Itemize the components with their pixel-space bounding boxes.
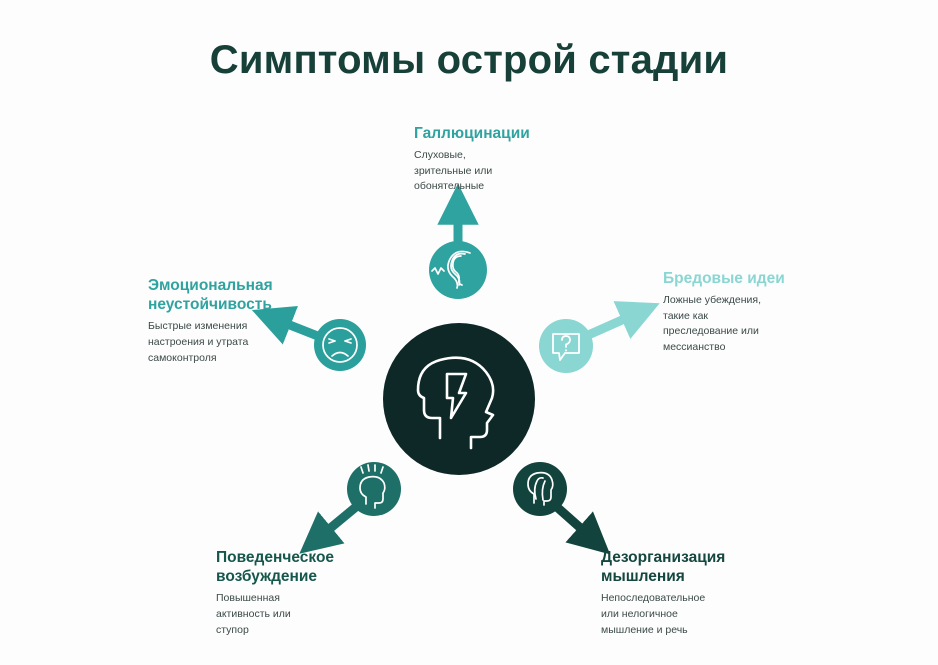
node-text-behavioral: Поведенческое возбуждение Повышенная акт… bbox=[216, 548, 406, 638]
node-circle-disorganized[interactable] bbox=[513, 462, 567, 516]
node-text-disorganized: Дезорганизация мышления Непоследовательн… bbox=[601, 548, 801, 638]
node-desc-delusions: Ложные убеждения, такие как преследовани… bbox=[663, 293, 853, 355]
node-desc-disorganized: Непоследовательное или нелогичное мышлен… bbox=[601, 591, 801, 638]
node-text-hallucinations: Галлюцинации Слуховые, зрительные или об… bbox=[414, 124, 624, 195]
node-circle-hallucinations[interactable] bbox=[429, 241, 487, 299]
node-heading-disorganized: Дезорганизация мышления bbox=[601, 548, 801, 586]
node-desc-behavioral: Повышенная активность или ступор bbox=[216, 591, 406, 638]
node-desc-hallucinations: Слуховые, зрительные или обонятельные bbox=[414, 148, 624, 195]
node-text-delusions: Бредовые идеи Ложные убеждения, такие ка… bbox=[663, 269, 853, 355]
node-desc-emotional: Быстрые изменения настроения и утрата са… bbox=[148, 319, 324, 366]
infographic-canvas: Симптомы острой стадии bbox=[0, 0, 938, 665]
center-core bbox=[383, 323, 535, 475]
node-heading-hallucinations: Галлюцинации bbox=[414, 124, 624, 143]
node-heading-delusions: Бредовые идеи bbox=[663, 269, 853, 288]
node-circle-delusions[interactable] bbox=[539, 319, 593, 373]
node-heading-behavioral: Поведенческое возбуждение bbox=[216, 548, 406, 586]
node-circle-behavioral[interactable] bbox=[347, 462, 401, 516]
node-text-emotional: Эмоциональная неустойчивость Быстрые изм… bbox=[148, 276, 324, 366]
node-heading-emotional: Эмоциональная неустойчивость bbox=[148, 276, 324, 314]
